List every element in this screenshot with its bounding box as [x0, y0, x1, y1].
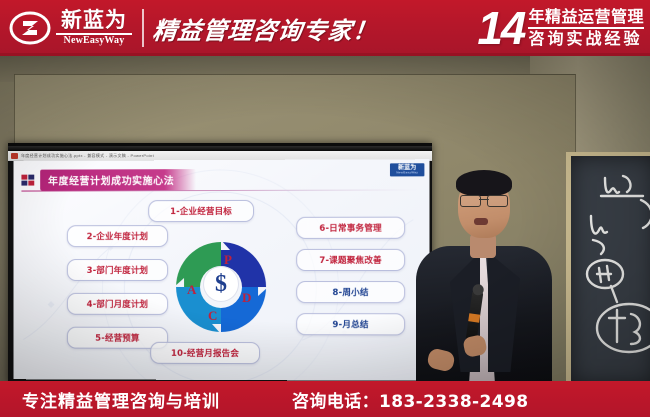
header-experience-block: 14 年精益运营管理 咨询实战经验 — [477, 7, 650, 49]
experience-lines: 年精益运营管理 咨询实战经验 — [528, 9, 644, 47]
footer-tagline: 专注精益管理咨询与培训 — [22, 387, 220, 412]
presenter-mouth — [474, 218, 488, 225]
pdca-cycle-diagram: P D C A $ — [172, 238, 270, 336]
brand-logo[interactable]: 新蓝为 NewEasyWay — [0, 10, 132, 46]
neweasyway-logo-icon — [9, 11, 51, 45]
header-banner: 新蓝为 NewEasyWay 精益管理咨询专家！ 14 年精益运营管理 咨询实战… — [0, 0, 650, 56]
brand-name-cn: 新蓝为 — [61, 10, 127, 31]
pdca-center-dollar: $ — [203, 266, 239, 302]
header-divider — [142, 9, 144, 47]
powerpoint-title-text: 年度经营计划成功实施心法.pptx - 兼容模式 - 演示文稿 - PowerP… — [21, 153, 154, 159]
slide-title-row: 年度经营计划成功实施心法 — [21, 169, 196, 190]
slide-box-right-4: 9-月总结 — [296, 313, 405, 335]
slide-canvas: 年度经营计划成功实施心法 新蓝为 NewEasyWay 1-企业经营目标 2-企… — [14, 159, 430, 381]
experience-line-1: 年精益运营管理 — [528, 9, 644, 25]
classroom-photo: 年度经营计划成功实施心法.pptx - 兼容模式 - 演示文稿 - PowerP… — [0, 56, 650, 381]
slide-box-top: 1-企业经营目标 — [148, 200, 254, 222]
whiteboard — [566, 152, 650, 381]
presenter-hair — [456, 170, 512, 196]
poster-frame: 新蓝为 NewEasyWay 精益管理咨询专家！ 14 年精益运营管理 咨询实战… — [0, 0, 650, 417]
slide-box-right-1: 6-日常事务管理 — [296, 217, 405, 239]
pdca-letter-c: C — [208, 308, 217, 324]
slide-box-left-2: 3-部门年度计划 — [67, 259, 168, 281]
pdca-letter-a: A — [187, 282, 196, 298]
slide-box-right-2: 7-课题聚焦改善 — [296, 249, 405, 271]
brand-logo-text: 新蓝为 NewEasyWay — [56, 10, 132, 46]
footer-phone[interactable]: 咨询电话：183-2338-2498 — [292, 387, 528, 412]
powerpoint-icon — [11, 153, 18, 159]
slide-box-left-1: 2-企业年度计划 — [67, 225, 168, 247]
presenter — [408, 160, 558, 381]
brand-name-en: NewEasyWay — [64, 36, 125, 46]
years-number: 14 — [477, 7, 524, 49]
slide-title: 年度经营计划成功实施心法 — [40, 169, 196, 190]
slide-box-left-3: 4-部门月度计划 — [67, 293, 168, 315]
slide-box-right-3: 8-周小结 — [296, 281, 405, 303]
slide-box-bottom: 10-经营月报告会 — [150, 342, 260, 364]
screen-camera-icon — [188, 143, 192, 144]
presentation-screen: 年度经营计划成功实施心法.pptx - 兼容模式 - 演示文稿 - PowerP… — [8, 143, 432, 381]
pdca-letter-d: D — [242, 290, 251, 306]
glasses-icon — [460, 195, 508, 205]
header-slogan: 精益管理咨询专家！ — [151, 11, 380, 46]
experience-line-2: 咨询实战经验 — [528, 31, 644, 47]
slide-title-squares-icon — [21, 175, 34, 186]
footer-banner: 专注精益管理咨询与培训 咨询电话：183-2338-2498 — [0, 381, 650, 417]
